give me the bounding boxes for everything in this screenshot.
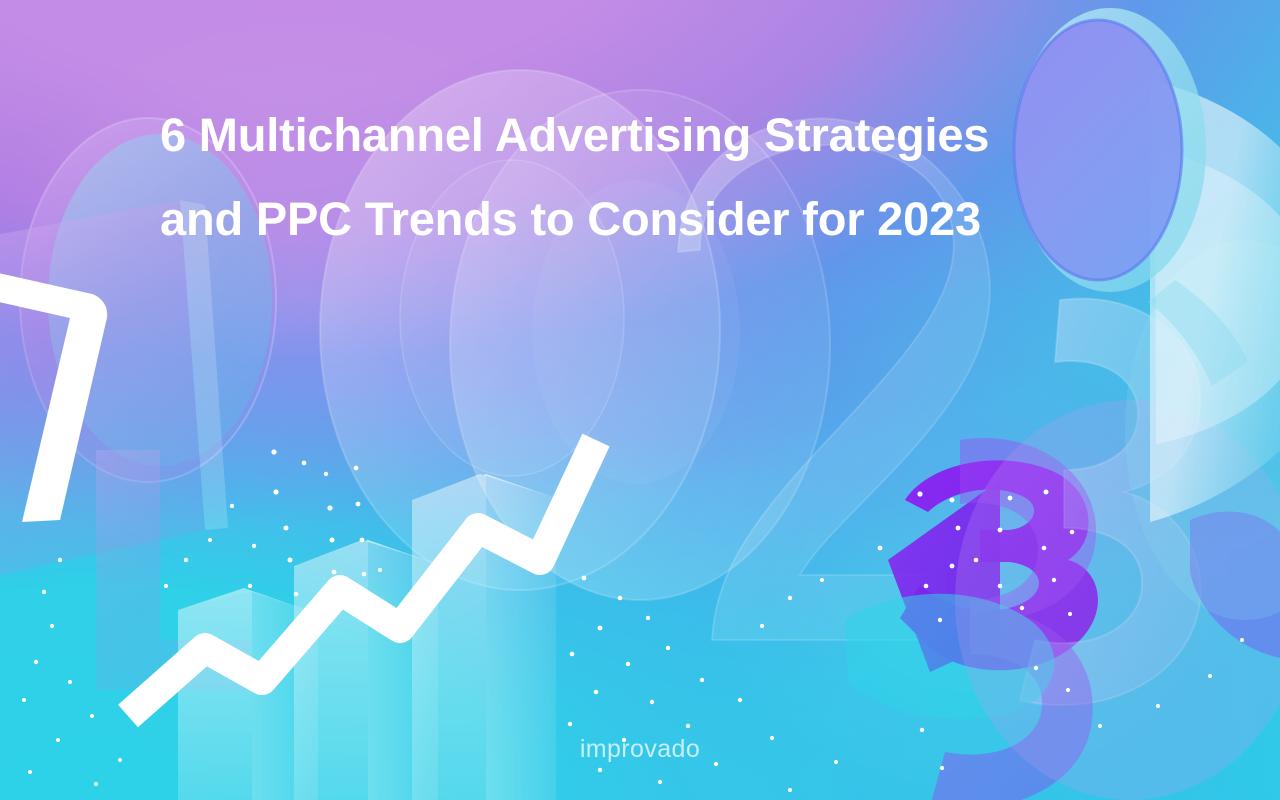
brand-logo: improvado <box>0 735 1280 764</box>
hero-banner: 6 Multichannel Advertising Strategies an… <box>0 0 1280 800</box>
page-title-line-1: 6 Multichannel Advertising Strategies <box>160 93 1140 177</box>
brand-logo-text: improvado <box>580 735 700 763</box>
page-title-line-2: and PPC Trends to Consider for 2023 <box>160 177 1140 261</box>
page-title: 6 Multichannel Advertising Strategies an… <box>160 93 1140 261</box>
seven-shape <box>0 262 107 522</box>
megaphone-icon <box>1014 8 1280 522</box>
trend-arrow <box>128 440 596 716</box>
